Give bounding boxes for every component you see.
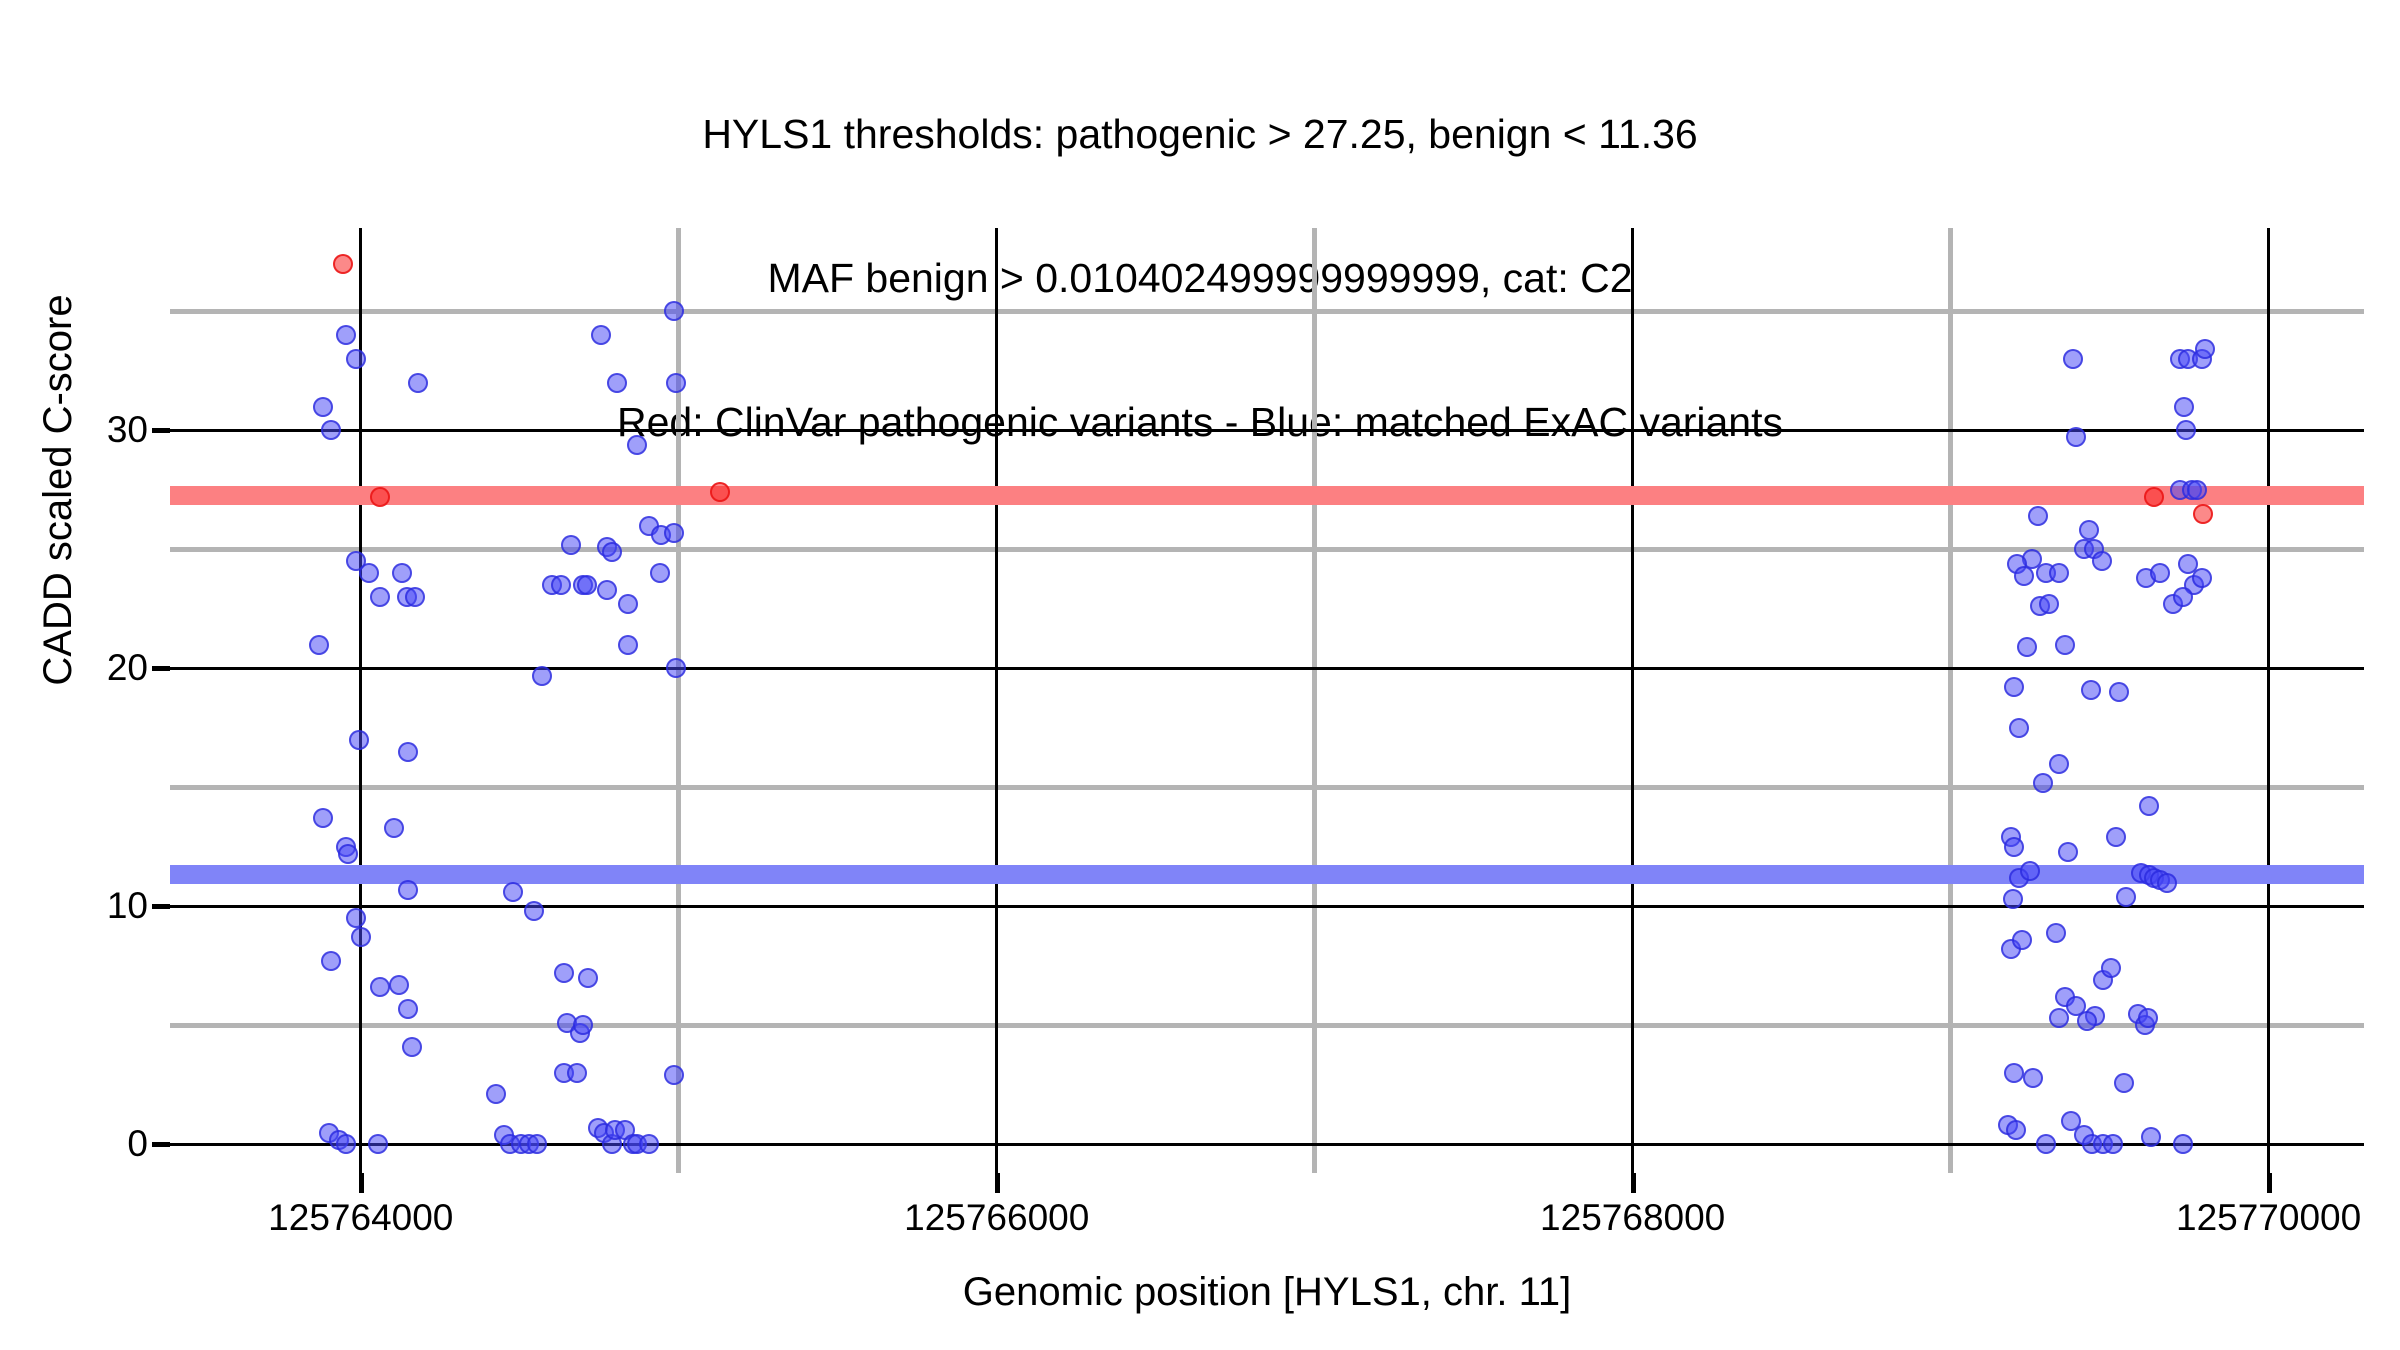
data-point-exac (2109, 682, 2129, 702)
data-point-exac (2049, 563, 2069, 583)
data-point-exac (561, 535, 581, 555)
data-point-exac (602, 542, 622, 562)
data-point-exac (2014, 566, 2034, 586)
data-point-exac (627, 435, 647, 455)
gridline-vertical-minor (676, 228, 681, 1173)
x-axis-label: Genomic position [HYLS1, chr. 11] (170, 1272, 2364, 1312)
data-point-exac (2116, 887, 2136, 907)
data-point-exac (2017, 637, 2037, 657)
data-point-exac (370, 977, 390, 997)
gridline-horizontal-major (170, 429, 2364, 432)
data-point-exac (554, 963, 574, 983)
data-point-exac (577, 575, 597, 595)
gridline-vertical-major (1631, 228, 1634, 1173)
data-point-exac (2081, 680, 2101, 700)
gridline-vertical-minor (1312, 228, 1317, 1173)
data-point-exac (321, 420, 341, 440)
plot-clip (170, 228, 2364, 1173)
y-axis-label: CADD scaled C-score (38, 140, 78, 840)
data-point-exac (2195, 339, 2215, 359)
chart-canvas: HYLS1 thresholds: pathogenic > 27.25, be… (0, 0, 2400, 1350)
data-point-exac (349, 730, 369, 750)
data-point-exac (346, 908, 366, 928)
y-tick-label: 10 (107, 887, 148, 924)
data-point-exac (2092, 551, 2112, 571)
data-point-exac (2139, 796, 2159, 816)
data-point-exac (2150, 563, 2170, 583)
data-point-exac (2138, 1008, 2158, 1028)
x-axis: 125764000125766000125768000125770000 (170, 1173, 2364, 1253)
data-point-exac (2079, 520, 2099, 540)
gridline-vertical-major (2267, 228, 2270, 1173)
data-point-exac (2049, 1008, 2069, 1028)
y-tick-label: 0 (127, 1125, 148, 1162)
x-tick-label: 125768000 (1540, 1199, 1725, 1236)
data-point-exac (2004, 837, 2024, 857)
data-point-exac (2157, 873, 2177, 893)
data-point-exac (336, 1134, 356, 1154)
data-point-exac (567, 1063, 587, 1083)
gridline-vertical-minor (1948, 228, 1953, 1173)
data-point-exac (384, 818, 404, 838)
data-point-pathogenic (2193, 504, 2213, 524)
data-point-exac (639, 1134, 659, 1154)
pathogenic-threshold-band (170, 486, 2364, 505)
data-point-exac (666, 658, 686, 678)
data-point-exac (597, 580, 617, 600)
data-point-exac (2012, 930, 2032, 950)
data-point-exac (578, 968, 598, 988)
gridline-horizontal-minor (170, 309, 2364, 314)
data-point-exac (398, 999, 418, 1019)
data-point-exac (2106, 827, 2126, 847)
data-point-exac (2055, 635, 2075, 655)
data-point-exac (650, 563, 670, 583)
x-tick-label: 125766000 (904, 1199, 1089, 1236)
data-point-exac (408, 373, 428, 393)
data-point-exac (2028, 506, 2048, 526)
data-point-exac (551, 575, 571, 595)
data-point-exac (2066, 427, 2086, 447)
data-point-exac (351, 927, 371, 947)
data-point-exac (370, 587, 390, 607)
data-point-exac (2173, 1134, 2193, 1154)
x-tick-mark (2267, 1173, 2272, 1193)
data-point-exac (2176, 420, 2196, 440)
data-point-exac (664, 523, 684, 543)
x-tick-label: 125764000 (268, 1199, 453, 1236)
y-tick-label: 30 (107, 411, 148, 448)
data-point-exac (2003, 889, 2023, 909)
data-point-exac (666, 373, 686, 393)
data-point-exac (2192, 568, 2212, 588)
data-point-exac (2039, 594, 2059, 614)
data-point-pathogenic (370, 487, 390, 507)
title-line-thresholds: HYLS1 thresholds: pathogenic > 27.25, be… (0, 110, 2400, 158)
data-point-exac (2004, 677, 2024, 697)
x-tick-mark (359, 1173, 364, 1193)
gridline-vertical-major (995, 228, 998, 1173)
data-point-exac (2174, 397, 2194, 417)
data-point-exac (398, 742, 418, 762)
gridline-horizontal-major (170, 667, 2364, 670)
data-point-exac (368, 1134, 388, 1154)
gridline-horizontal-major (170, 905, 2364, 908)
data-point-exac (486, 1084, 506, 1104)
data-point-exac (2036, 1134, 2056, 1154)
data-point-exac (398, 880, 418, 900)
data-point-exac (2049, 754, 2069, 774)
data-point-exac (2187, 480, 2207, 500)
data-point-exac (338, 844, 358, 864)
data-point-exac (618, 635, 638, 655)
y-tick-mark (152, 1142, 170, 1147)
data-point-exac (573, 1015, 593, 1035)
data-point-exac (524, 901, 544, 921)
data-point-exac (2033, 773, 2053, 793)
y-tick-mark (152, 428, 170, 433)
data-point-exac (503, 882, 523, 902)
data-point-exac (2009, 718, 2029, 738)
data-point-exac (2004, 1063, 2024, 1083)
data-point-exac (2063, 349, 2083, 369)
data-point-exac (2077, 1011, 2097, 1031)
data-point-exac (359, 563, 379, 583)
y-tick-mark (152, 904, 170, 909)
data-point-exac (2006, 1120, 2026, 1140)
data-point-exac (607, 373, 627, 393)
data-point-exac (405, 587, 425, 607)
data-point-exac (402, 1037, 422, 1057)
data-point-exac (346, 349, 366, 369)
data-point-pathogenic (2144, 487, 2164, 507)
data-point-exac (527, 1134, 547, 1154)
data-point-exac (2101, 958, 2121, 978)
data-point-exac (2023, 1068, 2043, 1088)
data-point-exac (532, 666, 552, 686)
data-point-exac (591, 325, 611, 345)
data-point-exac (321, 951, 341, 971)
plot-area (170, 228, 2364, 1173)
data-point-exac (309, 635, 329, 655)
data-point-exac (2058, 842, 2078, 862)
data-point-exac (313, 397, 333, 417)
data-point-exac (2046, 923, 2066, 943)
data-point-exac (336, 325, 356, 345)
y-tick-label: 20 (107, 649, 148, 686)
x-tick-mark (995, 1173, 1000, 1193)
y-axis: 0102030 (0, 228, 170, 1173)
y-tick-mark (152, 666, 170, 671)
data-point-exac (2114, 1073, 2134, 1093)
data-point-exac (618, 594, 638, 614)
gridline-vertical-major (359, 228, 362, 1173)
data-point-exac (2103, 1134, 2123, 1154)
data-point-exac (392, 563, 412, 583)
data-point-exac (389, 975, 409, 995)
data-point-pathogenic (333, 254, 353, 274)
data-point-exac (313, 808, 333, 828)
gridline-horizontal-minor (170, 1023, 2364, 1028)
data-point-exac (2020, 861, 2040, 881)
x-tick-label: 125770000 (2176, 1199, 2361, 1236)
data-point-exac (2173, 587, 2193, 607)
x-tick-mark (1631, 1173, 1636, 1193)
